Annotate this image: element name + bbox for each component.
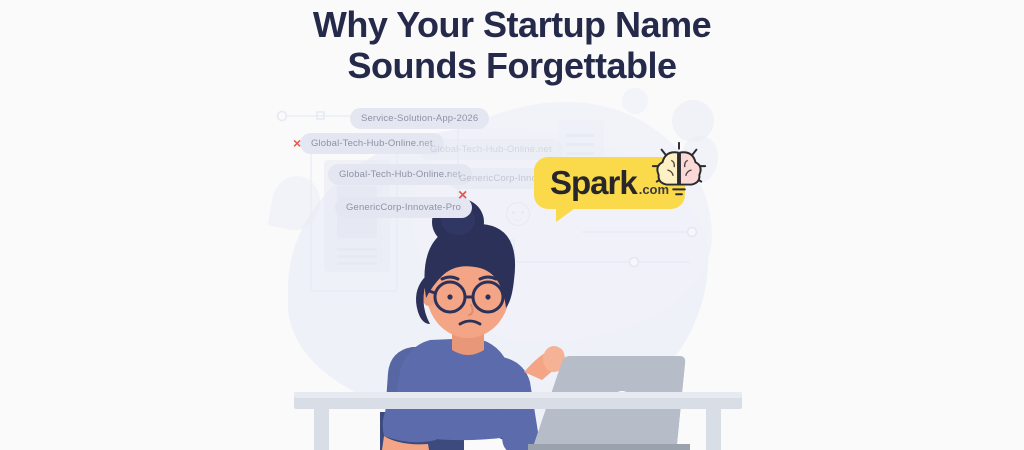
brand-name: Spark bbox=[550, 166, 637, 199]
reject-x-icon: × bbox=[458, 188, 467, 204]
brain-lightbulb-icon bbox=[648, 139, 710, 201]
illustration: Service-Solution-App-2026 Global-Tech-Hu… bbox=[262, 92, 762, 450]
name-suggestion-bubble[interactable]: Service-Solution-App-2026 bbox=[350, 108, 489, 129]
brand-logo[interactable]: Spark .com bbox=[534, 157, 685, 209]
page-title-line-1: Why Your Startup Name bbox=[0, 4, 1024, 45]
name-suggestion-bubble[interactable]: GenericCorp-Innovate-Pro bbox=[335, 197, 472, 218]
reject-x-icon: × bbox=[293, 136, 301, 150]
page-title-line-2: Sounds Forgettable bbox=[0, 45, 1024, 86]
page-title: Why Your Startup Name Sounds Forgettable bbox=[0, 4, 1024, 86]
